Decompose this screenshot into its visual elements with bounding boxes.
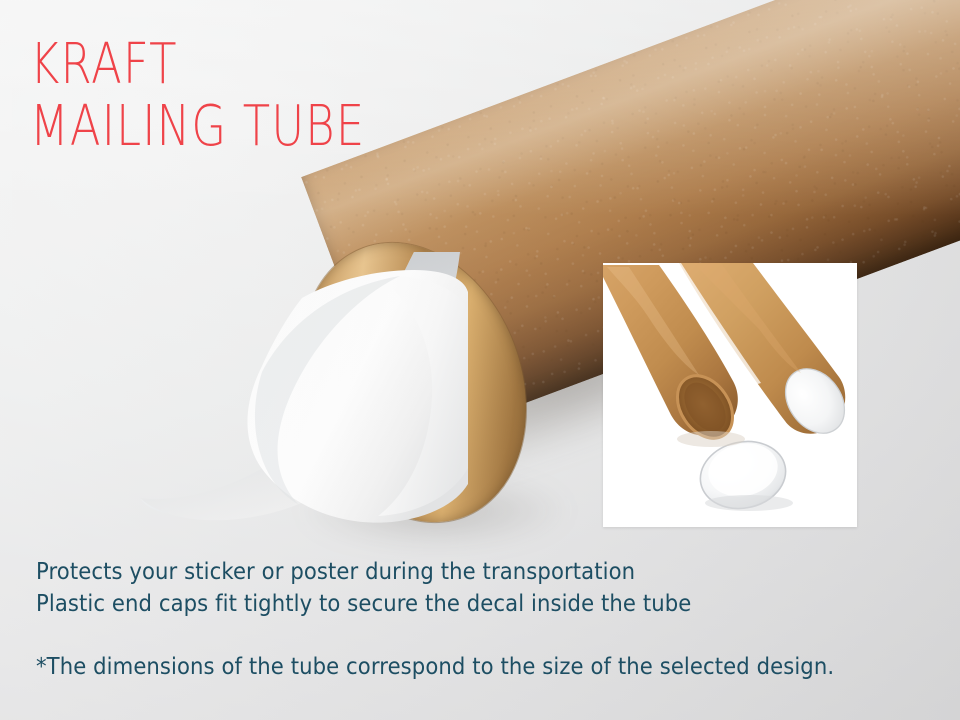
feature-text: Protects your sticker or poster during t… <box>36 556 691 620</box>
feature-line-1: Protects your sticker or poster during t… <box>36 556 691 588</box>
headline-line-1: KRAFT <box>30 34 365 96</box>
footnote-text: *The dimensions of the tube correspond t… <box>36 652 834 682</box>
cap-shadow <box>705 495 793 511</box>
feature-line-2: Plastic end caps fit tightly to secure t… <box>36 588 691 620</box>
mailing-tubes-product-photo <box>603 263 857 527</box>
page-title: KRAFT MAILING TUBE <box>30 34 365 158</box>
promo-banner: KRAFT MAILING TUBE <box>0 0 960 720</box>
tube-shadow <box>677 431 745 447</box>
headline-line-2: MAILING TUBE <box>30 96 365 158</box>
